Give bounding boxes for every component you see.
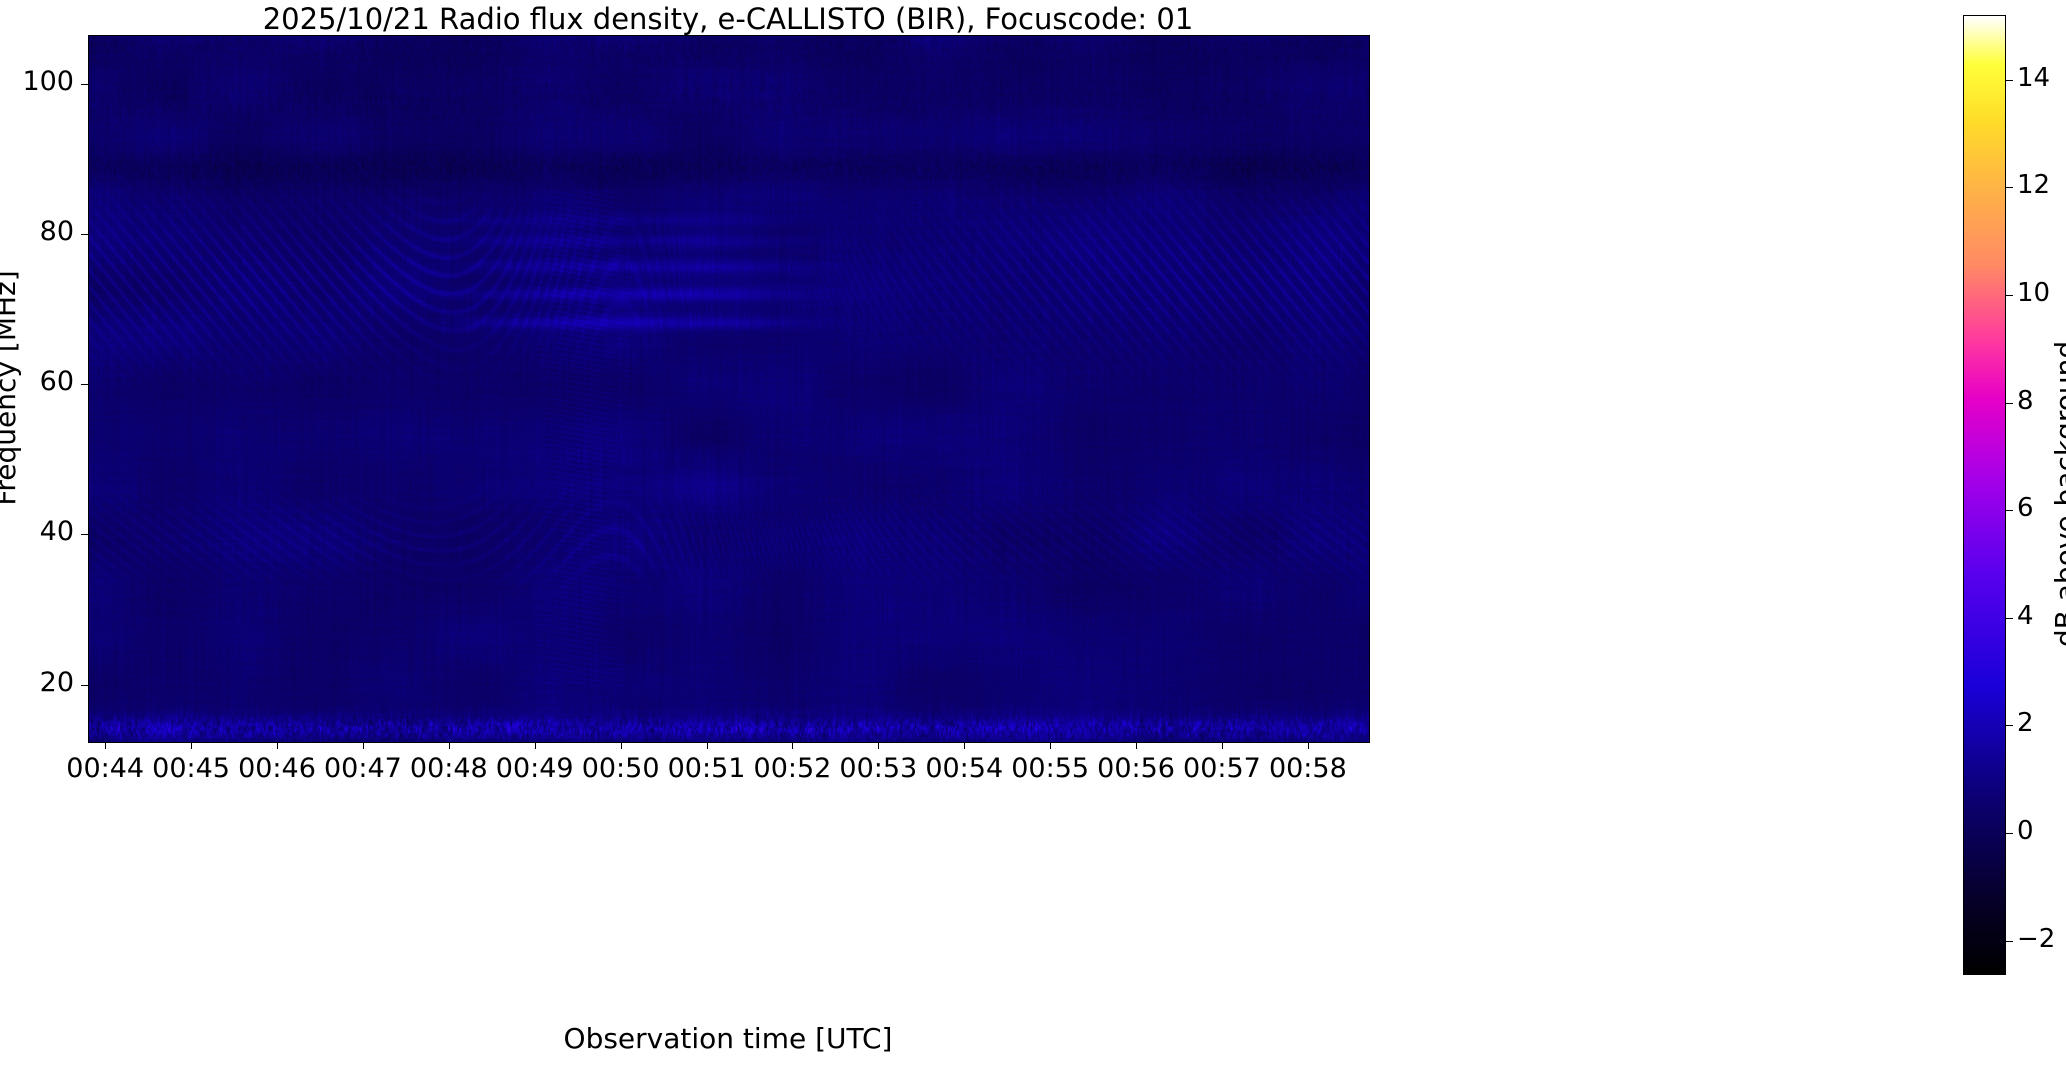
y-tick-label: 40 (0, 516, 74, 547)
colorbar-tick-mark (2006, 725, 2013, 726)
y-tick-mark (81, 84, 88, 85)
colorbar-axes (1963, 15, 2006, 975)
x-tick-mark (792, 742, 793, 749)
colorbar-tick-label: 12 (2017, 170, 2050, 200)
y-tick-label: 80 (0, 216, 74, 247)
spectrogram-axes (88, 35, 1370, 743)
colorbar-tick-mark (2006, 187, 2013, 188)
colorbar-tick-mark (2006, 510, 2013, 511)
colorbar-tick-label: 8 (2017, 386, 2034, 416)
colorbar-tick-label: 6 (2017, 493, 2034, 523)
x-tick-mark (535, 742, 536, 749)
y-tick-mark (81, 234, 88, 235)
x-tick-mark (191, 742, 192, 749)
x-tick-mark (1308, 742, 1309, 749)
colorbar-tick-mark (2006, 618, 2013, 619)
x-tick-mark (277, 742, 278, 749)
x-tick-label: 00:58 (1248, 753, 1368, 784)
x-tick-mark (964, 742, 965, 749)
colorbar-tick-label: 0 (2017, 816, 2034, 846)
x-tick-mark (621, 742, 622, 749)
colorbar-tick-mark (2006, 295, 2013, 296)
colorbar-label: dB above background (2049, 341, 2066, 647)
spectrogram-image (89, 36, 1369, 742)
colorbar-tick-mark (2006, 833, 2013, 834)
x-tick-mark (1136, 742, 1137, 749)
colorbar-tick-label: 4 (2017, 601, 2034, 631)
x-tick-mark (449, 742, 450, 749)
y-tick-mark (81, 685, 88, 686)
x-tick-mark (363, 742, 364, 749)
y-tick-mark (81, 534, 88, 535)
y-tick-label: 100 (0, 66, 74, 97)
colorbar-tick-label: 10 (2017, 278, 2050, 308)
y-tick-mark (81, 384, 88, 385)
figure-canvas: 2025/10/21 Radio flux density, e-CALLIST… (0, 0, 2066, 1067)
colorbar-tick-label: 14 (2017, 63, 2050, 93)
x-axis-label: Observation time [UTC] (88, 1022, 1368, 1055)
x-tick-mark (1222, 742, 1223, 749)
colorbar-tick-label: −2 (2017, 924, 2055, 954)
colorbar-tick-mark (2006, 403, 2013, 404)
x-tick-mark (105, 742, 106, 749)
x-tick-mark (707, 742, 708, 749)
x-tick-mark (1050, 742, 1051, 749)
page-title: 2025/10/21 Radio flux density, e-CALLIST… (88, 2, 1368, 36)
colorbar-tick-mark (2006, 80, 2013, 81)
y-tick-label: 20 (0, 667, 74, 698)
x-tick-mark (878, 742, 879, 749)
y-axis-label: Frequency [MHz] (0, 270, 22, 505)
colorbar-gradient (1964, 16, 2005, 974)
colorbar-tick-label: 2 (2017, 708, 2034, 738)
colorbar-tick-mark (2006, 941, 2013, 942)
